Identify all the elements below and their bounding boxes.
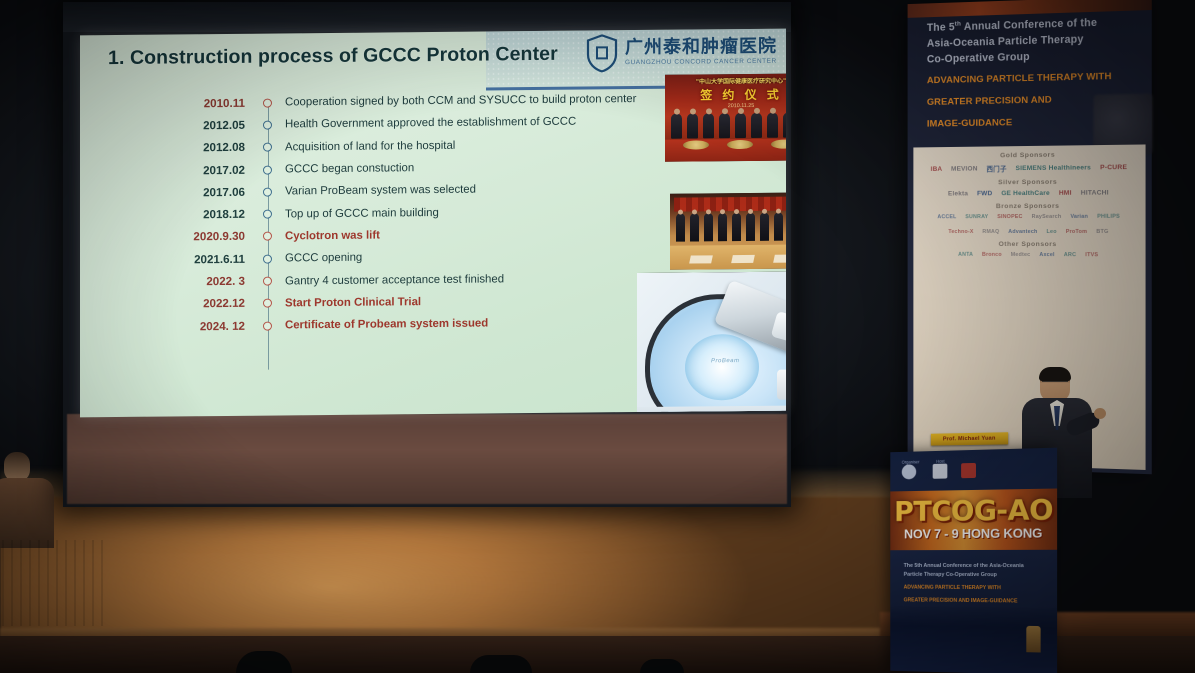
sponsor-logo: RaySearch (1032, 214, 1062, 220)
audience-silhouette (640, 659, 684, 673)
timeline-date: 2017.02 (80, 163, 245, 178)
sponsor-section-heading: Gold Sponsors (913, 151, 1145, 161)
timeline-row: 2024. 12Certificate of Probeam system is… (80, 312, 550, 339)
conference-photo-scene: 1. Construction process of GCCC Proton C… (0, 0, 1195, 673)
screen-lower-shadow (67, 414, 787, 504)
timeline-label: Top up of GCCC main building (285, 207, 439, 220)
sponsor-logo: ProTom (1066, 229, 1087, 235)
sponsor-logo-row: ANTABroncoMedtecAxcelARCITVS (913, 252, 1145, 259)
proton-gantry-photo: ProBeam (637, 271, 786, 418)
sponsor-logo-row: IBAMEVION西门子SIEMENS HealthineersP-CURE (913, 162, 1145, 174)
page-title: 1. Construction process of GCCC Proton C… (108, 43, 558, 70)
sponsor-logo: SIEMENS Healthineers (1016, 164, 1091, 172)
timeline-marker-icon (263, 120, 272, 129)
sponsor-logo: ARC (1064, 252, 1076, 258)
timeline-date: 2010.11 (80, 96, 245, 111)
banner-title-prefix: The 5 (927, 21, 955, 34)
timeline-label: Varian ProBeam system was selected (285, 184, 476, 198)
timeline-marker-icon (263, 210, 272, 219)
timeline-marker-icon (263, 321, 272, 330)
sponsor-logo: GE HealthCare (1001, 190, 1050, 197)
auditorium-seats (674, 196, 786, 211)
sponsor-logo: Bronco (982, 252, 1002, 258)
sponsor-logo: Techno-X (948, 229, 973, 235)
sponsor-logo: FWD (977, 190, 992, 197)
speaker-hair (1039, 367, 1071, 381)
speaker-name-text: Prof. Michael Yuan (931, 432, 1008, 445)
sponsor-logo: ANTA (958, 252, 973, 258)
timeline-label: Cyclotron was lift (285, 229, 380, 242)
sponsor-logo: Medtec (1011, 252, 1031, 258)
sponsor-logo: Axcel (1039, 252, 1054, 258)
sponsor-logo: SUNRAY (965, 214, 988, 220)
probeam-watermark: ProBeam (711, 358, 740, 364)
banner-title-suffix: Annual Conference of the (961, 17, 1097, 33)
timeline-marker-icon (263, 299, 272, 308)
podium-event-dates: NOV 7 - 9 HONG KONG (890, 525, 1057, 541)
podium-event-title: PTCOG-AO (890, 493, 1057, 528)
sponsor-logo: ACCEL (937, 214, 956, 220)
patient-couch (777, 369, 786, 400)
sponsor-section-heading: Silver Sponsors (913, 178, 1145, 187)
timeline-date: 2024. 12 (80, 319, 245, 334)
speaker-glasses (1042, 381, 1068, 388)
host-logo-icon (933, 464, 948, 479)
screen-top-shadow (63, 2, 791, 32)
banner-tagline-1: ADVANCING PARTICLE THERAPY WITH (927, 70, 1131, 89)
projection-screen: 1. Construction process of GCCC Proton C… (63, 2, 791, 507)
podium-statue-graphic (1026, 626, 1040, 653)
sponsor-logo: IBA (931, 165, 943, 172)
ceremony-table (665, 138, 786, 161)
sponsor-logo: ITVS (1085, 252, 1098, 258)
hospital-name-cn: 广州泰和肿瘤医院 (625, 38, 777, 57)
sponsor-logo: 西门子 (987, 163, 1007, 173)
host-logo-secondary-icon (961, 463, 976, 478)
timeline-date: 2022.12 (80, 297, 245, 312)
timeline-date: 2021.6.11 (80, 253, 245, 268)
timeline-date: 2012.05 (80, 119, 245, 134)
sponsor-logo: PHILIPS (1097, 214, 1120, 220)
podium-desc-line3: ADVANCING PARTICLE THERAPY WITH (904, 584, 1043, 594)
sponsor-logo: P-CURE (1100, 163, 1127, 170)
seated-person-body (0, 478, 54, 548)
podium-desc-line4: GREATER PRECISION AND IMAGE-GUIDANCE (904, 597, 1043, 607)
timeline-label: Certificate of Probeam system issued (285, 318, 488, 332)
shield-logo-icon (586, 34, 618, 72)
lectern-podium: Organiser Host PTCOG-AO NOV 7 - 9 HONG K… (890, 448, 1057, 673)
timeline-label: GCCC began constuction (285, 162, 414, 175)
sponsor-logo: Elekta (948, 190, 968, 197)
hospital-name-en: GUANGZHOU CONCORD CANCER CENTER (625, 59, 777, 67)
ceremony-banner-text: "中山大学国际健康医疗研究中心" (669, 75, 786, 84)
sponsor-logo-row: ACCELSUNRAYSINOPECRaySearchVarianPHILIPS… (913, 214, 1145, 235)
audience-silhouette (470, 655, 532, 673)
sponsor-logo: HITACHI (1081, 189, 1109, 196)
podium-desc-line1: The 5th Annual Conference of the Asia-Oc… (904, 562, 1043, 571)
signing-desk (670, 244, 786, 269)
ceremony-title-text: 签 约 仪 式 (665, 85, 786, 103)
timeline-label: Health Government approved the establish… (285, 116, 576, 131)
sponsor-logo: RMAQ (982, 229, 999, 235)
sponsor-logo: Advantech (1008, 229, 1037, 235)
podium-description: The 5th Annual Conference of the Asia-Oc… (904, 562, 1043, 607)
timeline-marker-icon (263, 98, 272, 107)
sponsor-logo: Varian (1070, 214, 1088, 220)
timeline-label: Acquisition of land for the hospital (285, 140, 455, 154)
organiser-logo-icon (902, 464, 916, 479)
timeline-date: 2018.12 (80, 208, 245, 223)
speaker-nameplate: Prof. Michael Yuan (931, 432, 1008, 445)
sponsor-logo: SINOPEC (997, 214, 1022, 220)
sponsor-logo-row: ElektaFWDGE HealthCareHMIHITACHI (913, 189, 1145, 197)
timeline-date: 2012.08 (80, 141, 245, 156)
sponsor-logo: HMI (1059, 190, 1072, 197)
speaker-hand (1094, 408, 1106, 419)
panel-desk (0, 540, 104, 626)
signing-ceremony-photo: "中山大学国际健康医疗研究中心" 签 约 仪 式 2010.11.25 (665, 73, 786, 161)
ceremony-attendees (665, 109, 786, 138)
timeline-marker-icon (263, 143, 272, 152)
group-signing-photo (670, 192, 786, 269)
podium-organiser-row: Organiser Host (902, 458, 977, 480)
timeline-marker-icon (263, 254, 272, 263)
sponsor-logo: MEVION (951, 165, 978, 172)
group-attendees (672, 210, 786, 241)
timeline-marker-icon (263, 165, 272, 174)
timeline-label: Cooperation signed by both CCM and SYSUC… (285, 93, 636, 108)
timeline-marker-icon (263, 232, 272, 241)
seated-person-left (0, 452, 62, 572)
timeline-date: 2022. 3 (80, 275, 245, 290)
timeline-label: Start Proton Clinical Trial (285, 296, 421, 309)
construction-timeline: 2010.11Cooperation signed by both CCM an… (80, 89, 550, 339)
sponsor-section-heading: Other Sponsors (913, 241, 1145, 248)
sponsor-logo: BTG (1096, 229, 1108, 235)
podium-desc-line2: Particle Therapy Co-Operative Group (904, 571, 1043, 581)
timeline-date: 2017.06 (80, 186, 245, 201)
timeline-marker-icon (263, 277, 272, 286)
presentation-slide: 1. Construction process of GCCC Proton C… (80, 29, 786, 418)
sponsor-section-heading: Bronze Sponsors (913, 202, 1145, 210)
hospital-logo: 广州泰和肿瘤医院 GUANGZHOU CONCORD CANCER CENTER (586, 33, 777, 73)
timeline-date: 2020.9.30 (80, 230, 245, 245)
timeline-label: Gantry 4 customer acceptance test finish… (285, 273, 504, 287)
timeline-label: GCCC opening (285, 252, 362, 265)
timeline-marker-icon (263, 187, 272, 196)
sponsor-logo: Leo (1047, 229, 1057, 235)
